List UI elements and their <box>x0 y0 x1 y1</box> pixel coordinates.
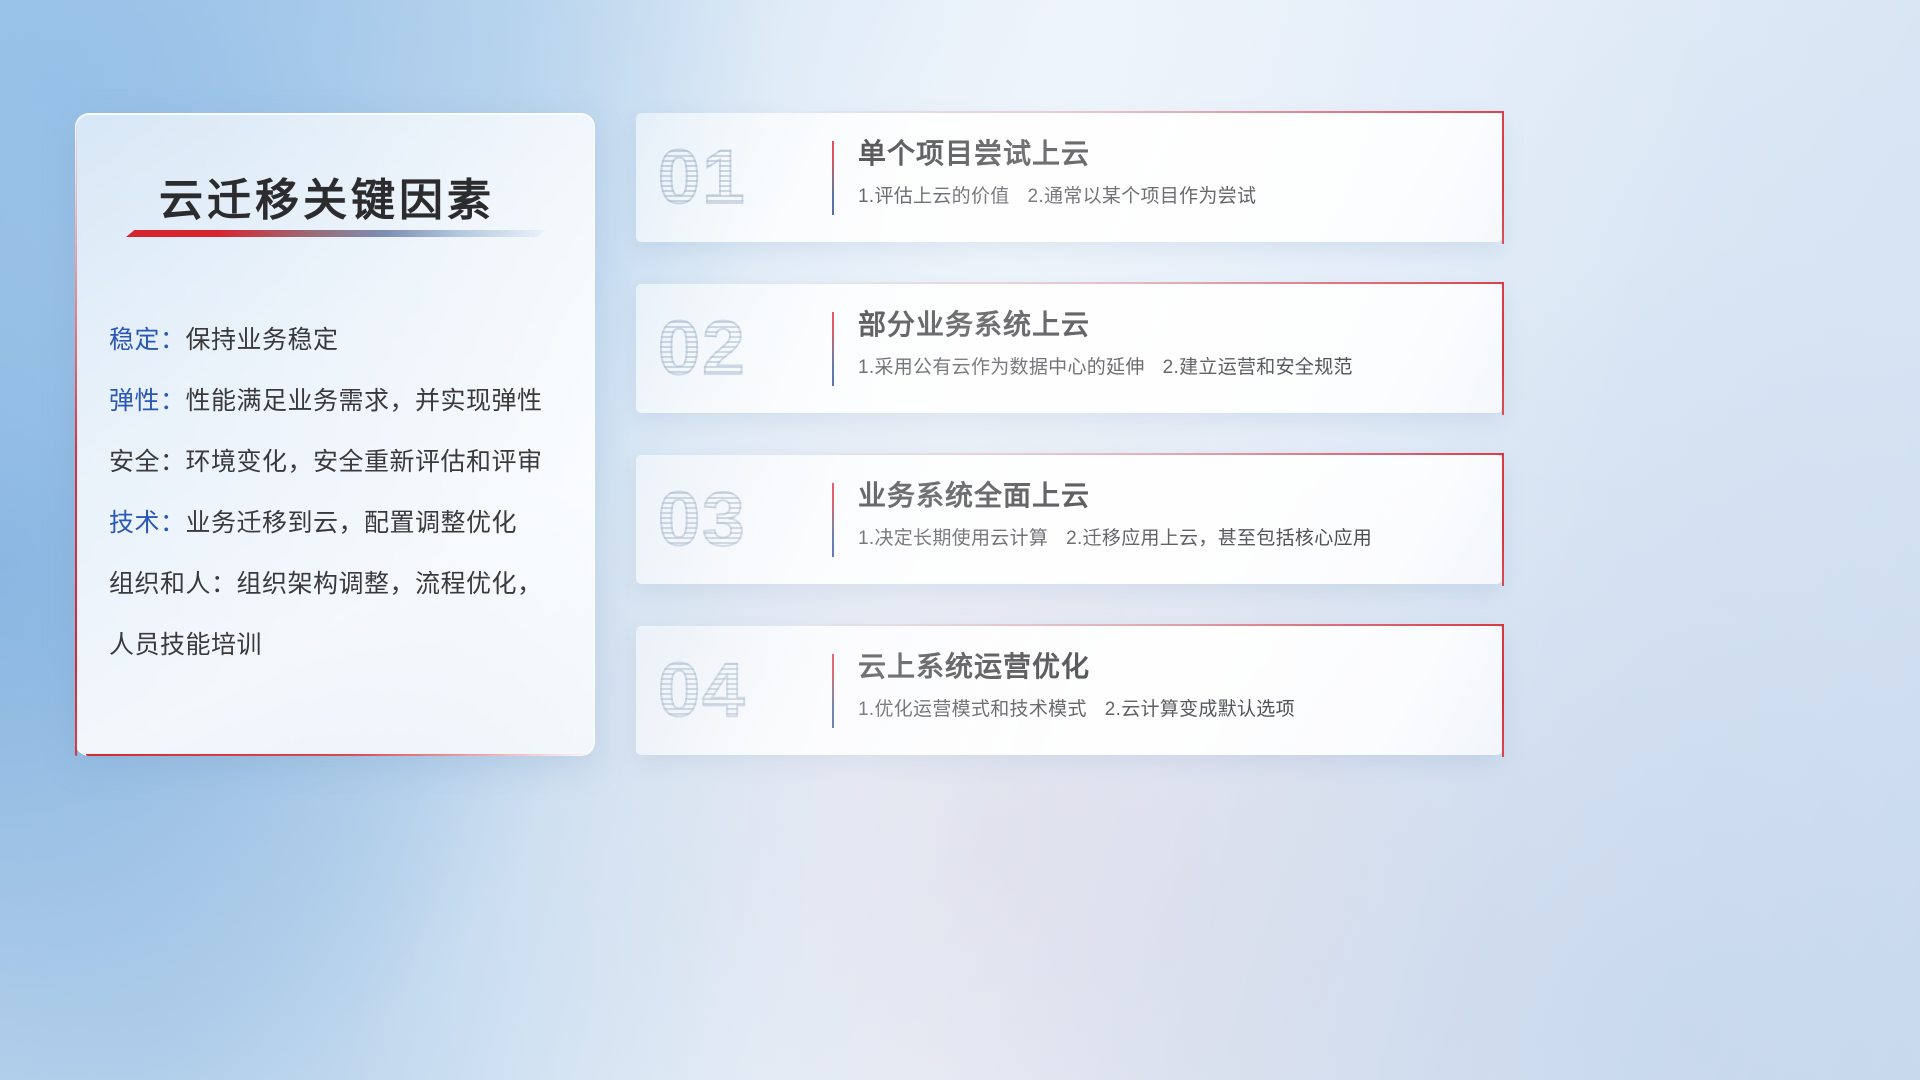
step-divider-bar <box>832 141 834 215</box>
migration-step-card[interactable]: 01单个项目尝试上云1.评估上云的价值2.通常以某个项目作为尝试 <box>636 113 1502 242</box>
step-number: 04 <box>658 653 747 729</box>
step-title: 业务系统全面上云 <box>858 477 1478 515</box>
step-description: 1.决定长期使用云计算2.迁移应用上云，甚至包括核心应用 <box>858 526 1478 552</box>
step-body: 单个项目尝试上云1.评估上云的价值2.通常以某个项目作为尝试 <box>858 135 1478 210</box>
step-title: 云上系统运营优化 <box>858 648 1478 686</box>
key-factor-label: 稳定： <box>109 326 186 354</box>
key-factor-text: 业务迁移到云，配置调整优化 <box>186 509 518 537</box>
key-factor-text: 性能满足业务需求，并实现弹性 <box>186 387 543 415</box>
step-point-2: 2.建立运营和安全规范 <box>1163 357 1353 378</box>
step-description: 1.评估上云的价值2.通常以某个项目作为尝试 <box>858 184 1478 210</box>
step-divider-bar <box>832 483 834 557</box>
migration-step-card[interactable]: 03业务系统全面上云1.决定长期使用云计算2.迁移应用上云，甚至包括核心应用 <box>636 455 1502 584</box>
key-factor-text: 环境变化，安全重新评估和评审 <box>186 448 543 476</box>
step-body: 业务系统全面上云1.决定长期使用云计算2.迁移应用上云，甚至包括核心应用 <box>858 477 1478 552</box>
step-point-2: 2.迁移应用上云，甚至包括核心应用 <box>1066 528 1372 549</box>
step-body: 部分业务系统上云1.采用公有云作为数据中心的延伸2.建立运营和安全规范 <box>858 306 1478 381</box>
key-factor-text: 组织架构调整，流程优化， <box>237 570 543 598</box>
key-factors-list: 稳定：保持业务稳定弹性：性能满足业务需求，并实现弹性安全：环境变化，安全重新评估… <box>109 310 574 676</box>
step-body: 云上系统运营优化1.优化运营模式和技术模式2.云计算变成默认选项 <box>858 648 1478 723</box>
key-factors-card: 云迁移关键因素 稳定：保持业务稳定弹性：性能满足业务需求，并实现弹性安全：环境变… <box>75 113 595 756</box>
step-number: 03 <box>658 482 747 558</box>
key-factor-label: 安全： <box>109 448 186 476</box>
migration-step-card[interactable]: 04云上系统运营优化1.优化运营模式和技术模式2.云计算变成默认选项 <box>636 626 1502 755</box>
key-factor-text: 人员技能培训 <box>109 631 262 659</box>
step-title: 单个项目尝试上云 <box>858 135 1478 173</box>
key-factor-line: 弹性：性能满足业务需求，并实现弹性 <box>109 371 574 432</box>
step-point-1: 1.决定长期使用云计算 <box>858 528 1048 549</box>
step-divider-bar <box>832 312 834 386</box>
step-point-2: 2.通常以某个项目作为尝试 <box>1028 186 1257 207</box>
key-factor-text: 保持业务稳定 <box>186 326 339 354</box>
step-point-1: 1.采用公有云作为数据中心的延伸 <box>858 357 1145 378</box>
migration-steps-list: 01单个项目尝试上云1.评估上云的价值2.通常以某个项目作为尝试02部分业务系统… <box>636 113 1502 797</box>
step-point-1: 1.评估上云的价值 <box>858 186 1010 207</box>
key-factor-line: 稳定：保持业务稳定 <box>109 310 574 371</box>
step-number: 02 <box>658 311 747 387</box>
step-point-1: 1.优化运营模式和技术模式 <box>858 699 1087 720</box>
key-factor-label: 组织和人： <box>109 570 237 598</box>
migration-step-card[interactable]: 02部分业务系统上云1.采用公有云作为数据中心的延伸2.建立运营和安全规范 <box>636 284 1502 413</box>
step-number: 01 <box>658 140 747 216</box>
key-factor-line: 人员技能培训 <box>109 615 574 676</box>
key-factor-label: 技术： <box>109 509 186 537</box>
step-divider-bar <box>832 654 834 728</box>
key-factor-line: 安全：环境变化，安全重新评估和评审 <box>109 432 574 493</box>
slide-canvas: 云迁移关键因素 稳定：保持业务稳定弹性：性能满足业务需求，并实现弹性安全：环境变… <box>0 0 1920 1080</box>
title-underline-gradient <box>126 230 546 237</box>
key-factor-line: 组织和人：组织架构调整，流程优化， <box>109 554 574 615</box>
step-description: 1.采用公有云作为数据中心的延伸2.建立运营和安全规范 <box>858 355 1478 381</box>
step-description: 1.优化运营模式和技术模式2.云计算变成默认选项 <box>858 697 1478 723</box>
step-point-2: 2.云计算变成默认选项 <box>1105 699 1295 720</box>
step-title: 部分业务系统上云 <box>858 306 1478 344</box>
key-factor-label: 弹性： <box>109 387 186 415</box>
key-factor-line: 技术：业务迁移到云，配置调整优化 <box>109 493 574 554</box>
page-title: 云迁移关键因素 <box>159 164 495 228</box>
